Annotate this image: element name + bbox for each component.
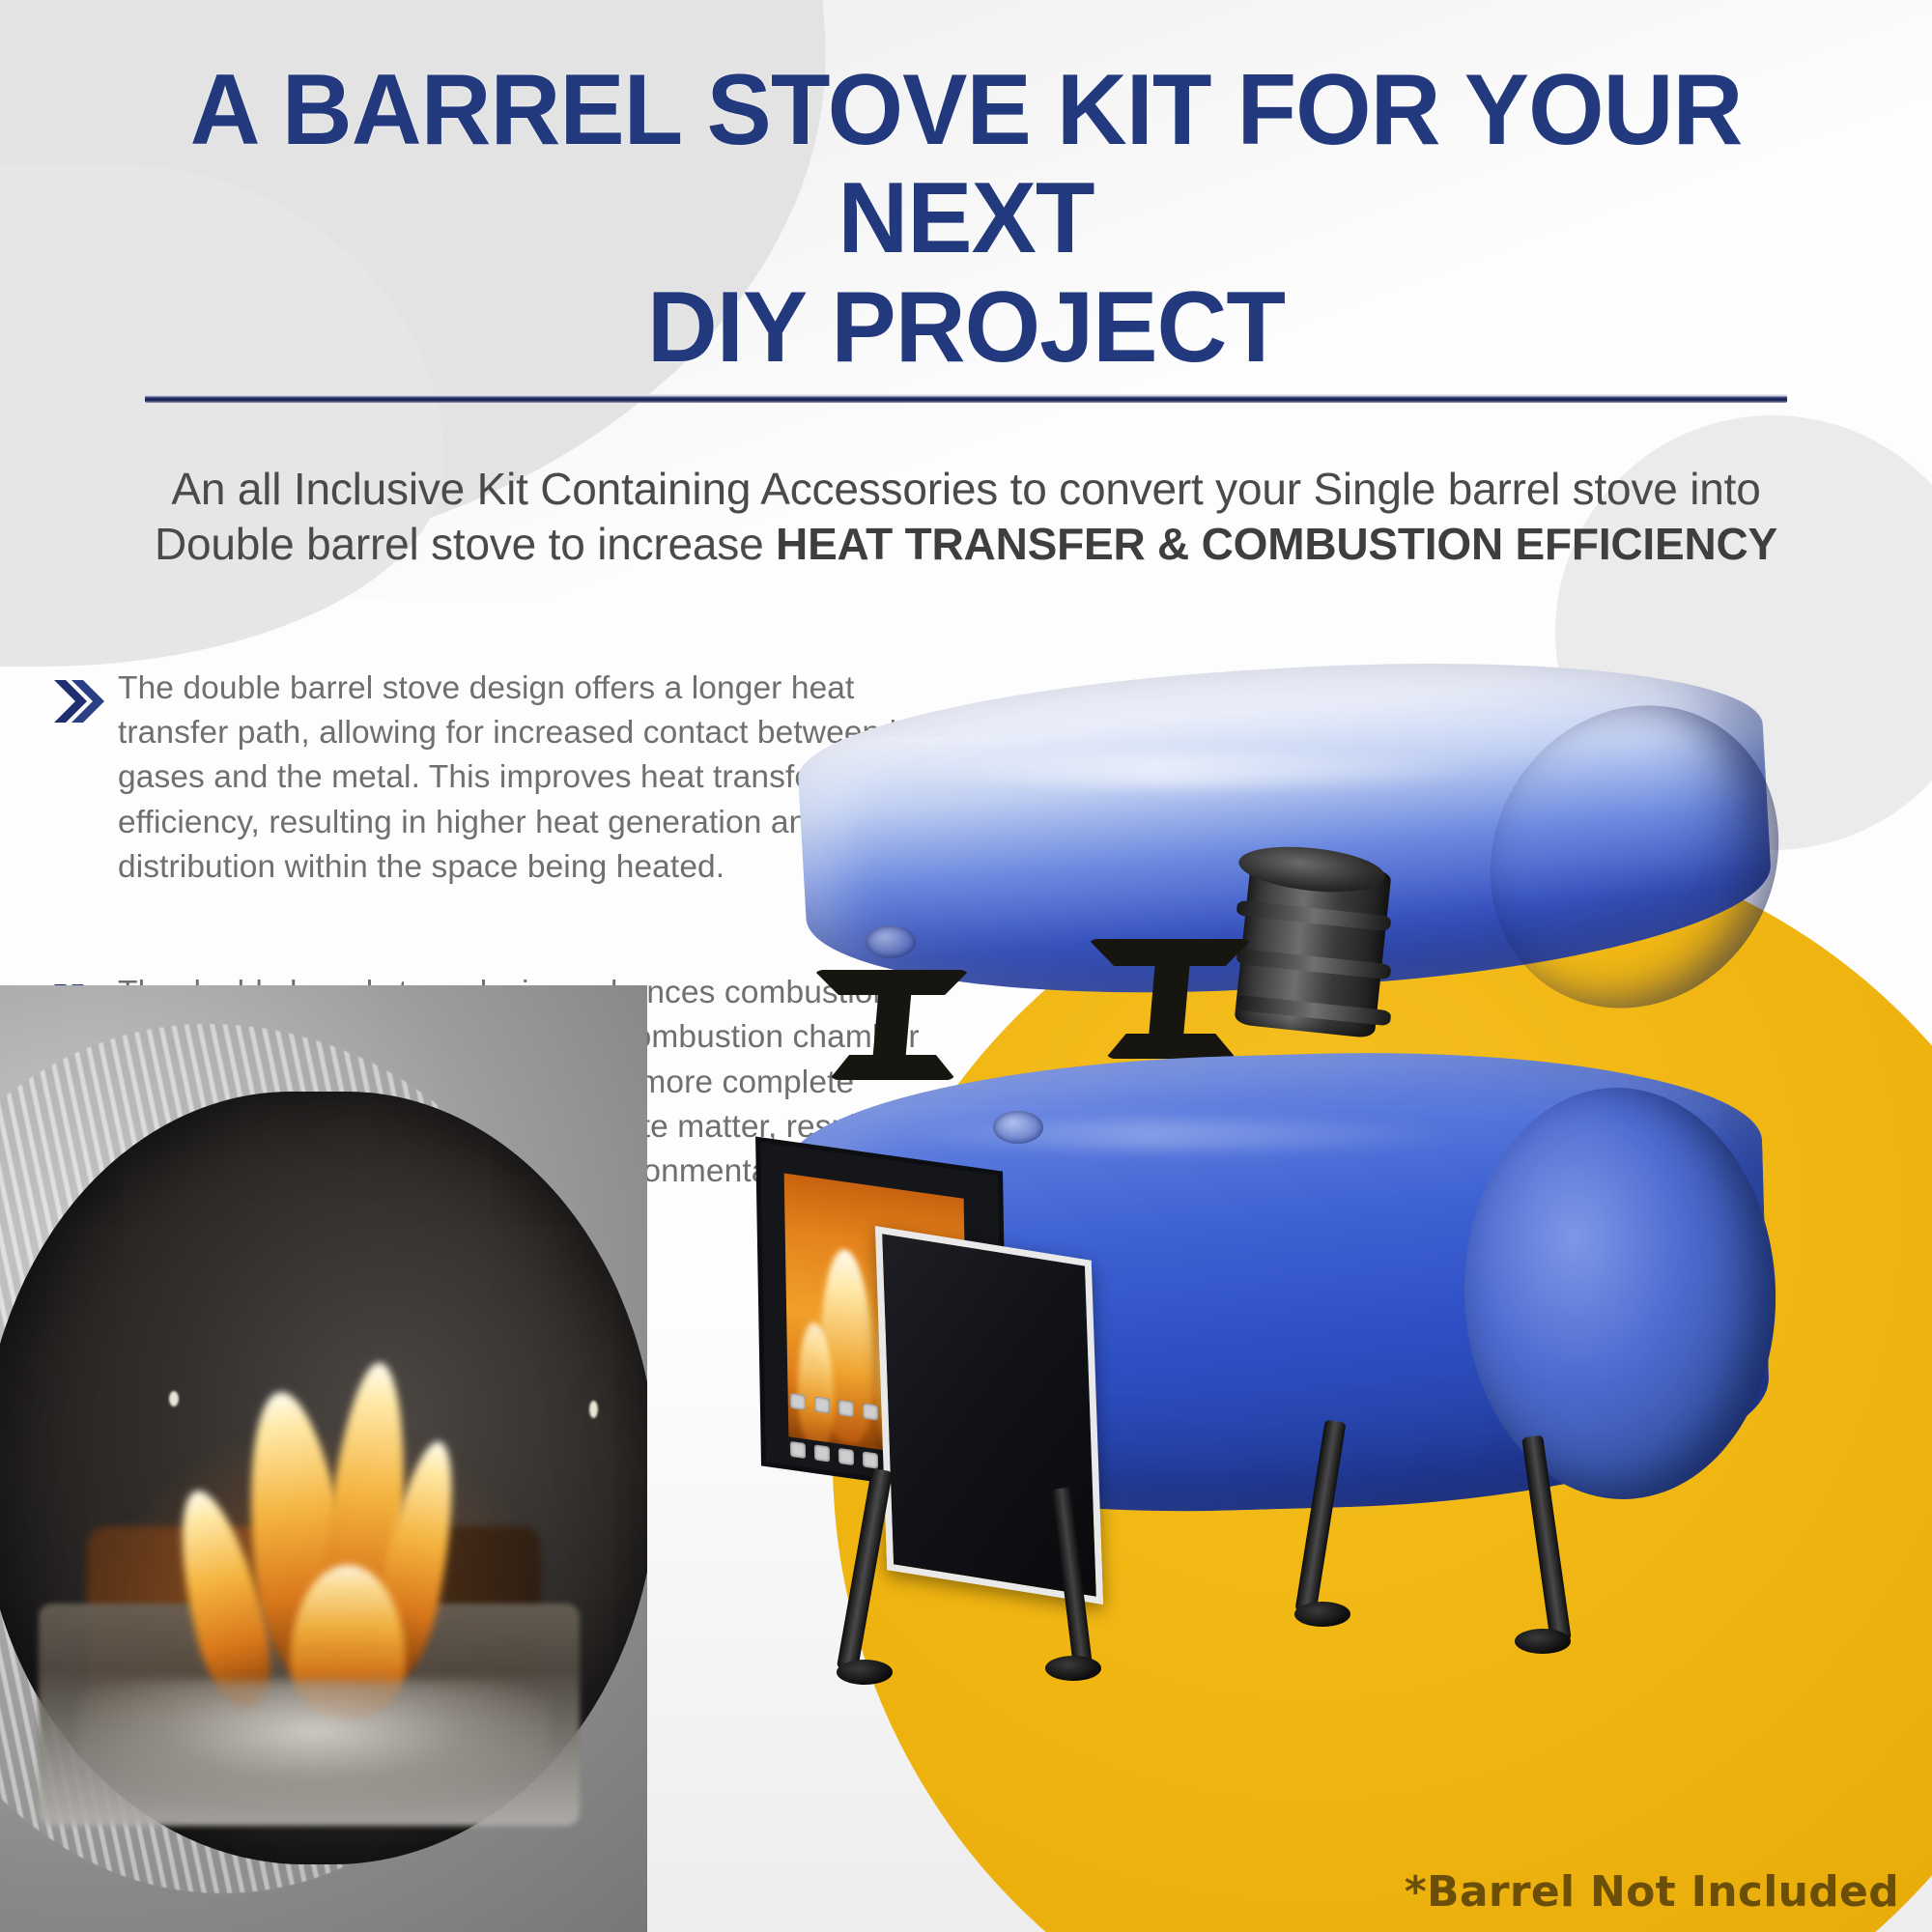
top-barrel-bung bbox=[866, 925, 916, 958]
damper-vent bbox=[838, 1448, 854, 1465]
stove-leg-foot bbox=[1045, 1656, 1101, 1681]
top-barrel-highlight bbox=[889, 753, 1488, 786]
barrel-connector-bracket bbox=[829, 1055, 956, 1080]
subtitle: An all Inclusive Kit Containing Accessor… bbox=[145, 462, 1787, 571]
stove-leg bbox=[837, 1468, 893, 1672]
page-title: A BARREL STOVE KIT FOR YOUR NEXT DIY PRO… bbox=[29, 0, 1903, 382]
spark bbox=[589, 1401, 598, 1418]
damper-vent bbox=[838, 1400, 854, 1417]
stove-leg-foot bbox=[837, 1660, 893, 1685]
damper-vent bbox=[814, 1444, 830, 1462]
damper-vent bbox=[814, 1396, 830, 1413]
stove-leg-foot bbox=[1294, 1602, 1350, 1627]
barrel-connector-bracket bbox=[1105, 1034, 1236, 1059]
bottom-barrel-highlight bbox=[889, 1121, 1468, 1150]
subtitle-emphasis: HEAT TRANSFER & COMBUSTION EFFICIENCY bbox=[776, 519, 1777, 569]
spark bbox=[169, 1391, 179, 1406]
damper-vent bbox=[863, 1451, 878, 1468]
infographic-canvas: A BARREL STOVE KIT FOR YOUR NEXT DIY PRO… bbox=[0, 0, 1932, 1932]
damper-vent bbox=[790, 1393, 806, 1410]
page-title-line2: DIY PROJECT bbox=[170, 273, 1763, 382]
disclaimer-text: *Barrel Not Included bbox=[1405, 1867, 1899, 1917]
header: A BARREL STOVE KIT FOR YOUR NEXT DIY PRO… bbox=[0, 0, 1932, 382]
ash-bed bbox=[77, 1681, 551, 1806]
double-barrel-stove-product bbox=[773, 618, 1932, 1932]
double-chevron-right-icon bbox=[50, 674, 106, 728]
damper-vent bbox=[863, 1403, 878, 1420]
page-title-line1: A BARREL STOVE KIT FOR YOUR NEXT bbox=[170, 56, 1763, 273]
damper-vent bbox=[790, 1441, 806, 1459]
bottom-barrel-bung bbox=[993, 1111, 1043, 1144]
fire-photo bbox=[0, 985, 647, 1932]
title-divider bbox=[145, 394, 1787, 403]
stove-leg-foot bbox=[1515, 1629, 1571, 1654]
